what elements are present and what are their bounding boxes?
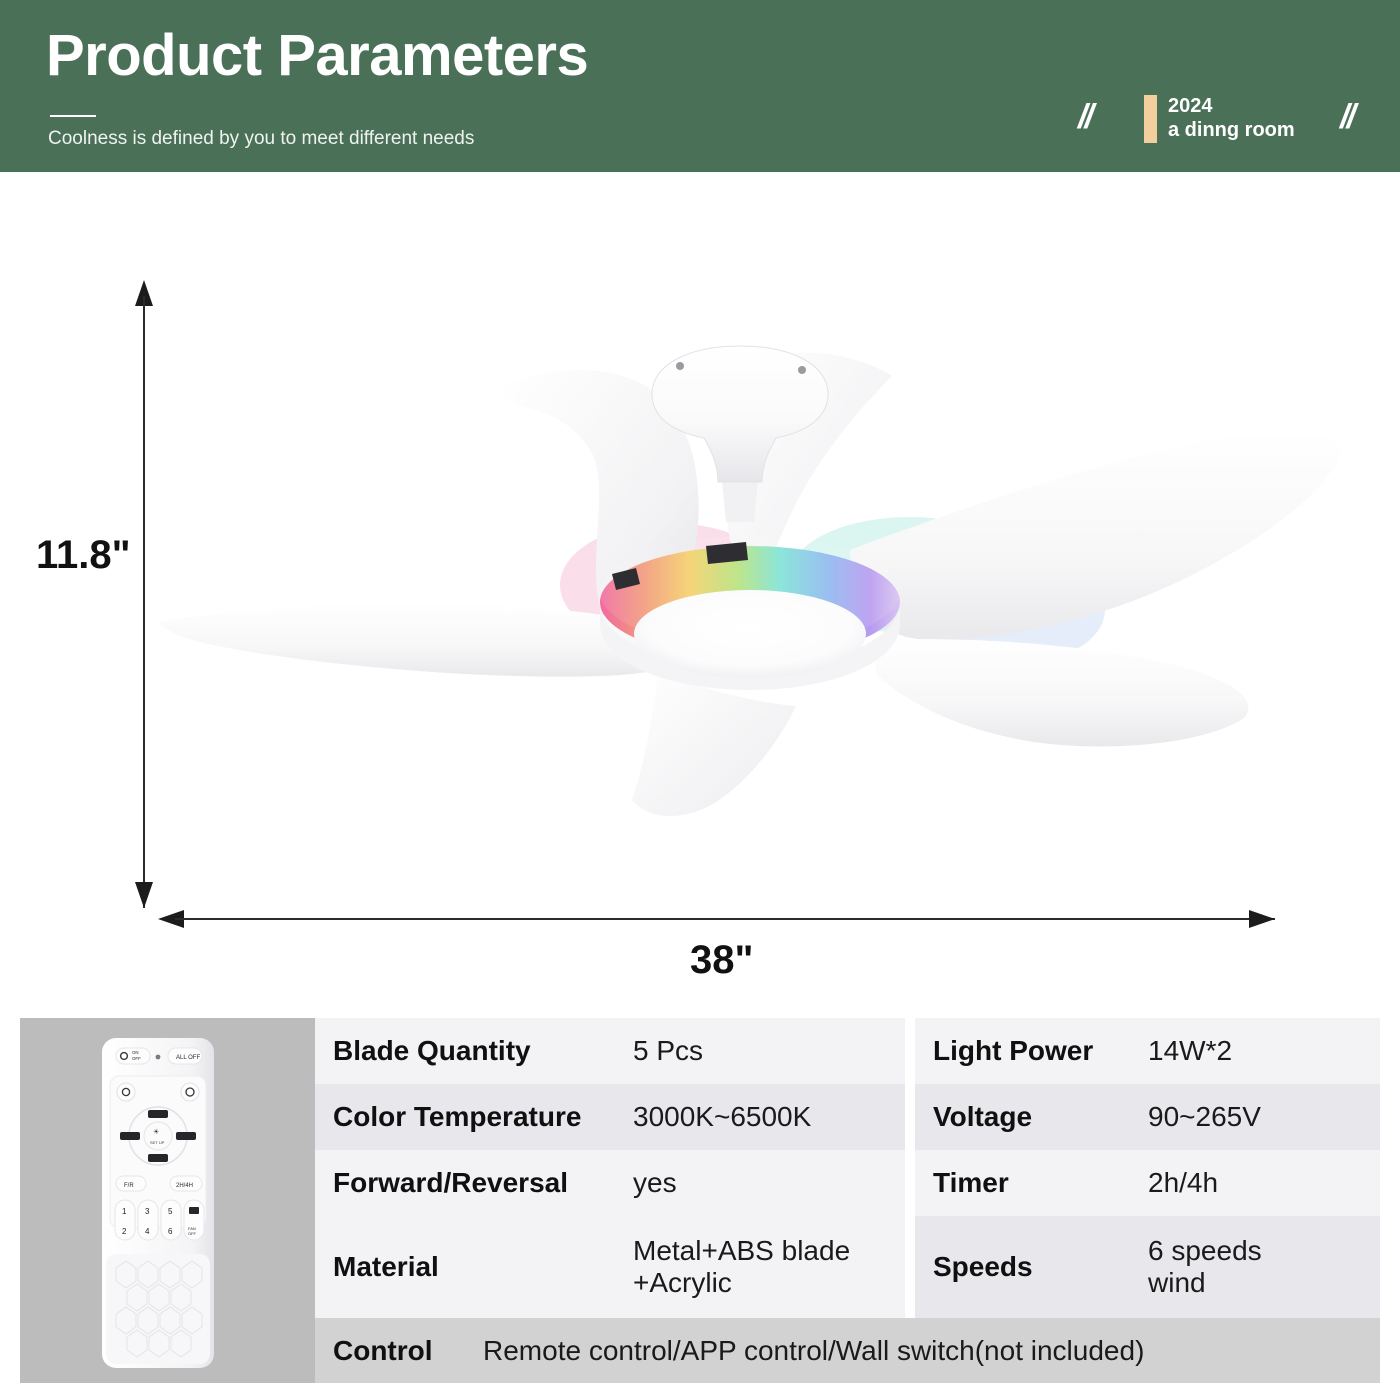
height-dimension-line bbox=[143, 296, 145, 908]
svg-text:OFF: OFF bbox=[132, 1056, 141, 1061]
table-row: Color Temperature 3000K~6500K bbox=[315, 1084, 905, 1150]
year-room-block: 2024 a dinng room bbox=[1168, 94, 1295, 143]
table-row-control: Control Remote control/APP control/Wall … bbox=[315, 1318, 1380, 1383]
svg-text:ON: ON bbox=[132, 1050, 139, 1055]
year-label: 2024 bbox=[1168, 94, 1295, 118]
room-label: a dinng room bbox=[1168, 118, 1295, 142]
spec-value: 14W*2 bbox=[1148, 1035, 1232, 1067]
specifications-section: ON OFF ALL OFF ☀ SET UP F/R 2H/4H bbox=[20, 1018, 1380, 1383]
spec-key: Speeds bbox=[933, 1251, 1148, 1283]
spec-value: Remote control/APP control/Wall switch(n… bbox=[483, 1335, 1144, 1367]
spec-key: Voltage bbox=[933, 1101, 1148, 1133]
spec-column-left: Blade Quantity 5 Pcs Color Temperature 3… bbox=[315, 1018, 905, 1318]
svg-text:ALL OFF: ALL OFF bbox=[176, 1055, 200, 1061]
year-accent-bar bbox=[1144, 95, 1157, 143]
spec-table: Blade Quantity 5 Pcs Color Temperature 3… bbox=[315, 1018, 1380, 1383]
page-header: Product Parameters Coolness is defined b… bbox=[0, 0, 1400, 172]
width-dimension-label: 38" bbox=[690, 938, 753, 983]
table-row: Timer 2h/4h bbox=[915, 1150, 1380, 1216]
slash-decoration-left: // bbox=[1078, 100, 1091, 134]
page-subtitle: Coolness is defined by you to meet diffe… bbox=[48, 128, 474, 150]
spec-value: Metal+ABS blade +Acrylic bbox=[633, 1235, 850, 1300]
svg-text:4: 4 bbox=[145, 1227, 150, 1236]
svg-text:1: 1 bbox=[122, 1207, 127, 1216]
svg-text:OFF: OFF bbox=[188, 1231, 197, 1236]
spec-column-right: Light Power 14W*2 Voltage 90~265V Timer … bbox=[915, 1018, 1380, 1318]
svg-text:5: 5 bbox=[168, 1207, 173, 1216]
height-dimension-label: 11.8" bbox=[36, 533, 131, 578]
svg-text:F/R: F/R bbox=[124, 1183, 134, 1189]
spec-key: Color Temperature bbox=[333, 1101, 633, 1133]
spec-value: yes bbox=[633, 1167, 677, 1199]
spec-key: Blade Quantity bbox=[333, 1035, 633, 1067]
slash-decoration-right: // bbox=[1340, 100, 1353, 134]
width-arrow-right-icon bbox=[1249, 910, 1275, 928]
svg-text:2: 2 bbox=[122, 1227, 127, 1236]
spec-value: 2h/4h bbox=[1148, 1167, 1218, 1199]
spec-value: 3000K~6500K bbox=[633, 1101, 811, 1133]
width-dimension-line bbox=[175, 918, 1275, 920]
title-divider bbox=[50, 115, 96, 117]
spec-key: Material bbox=[333, 1251, 633, 1283]
table-row: Forward/Reversal yes bbox=[315, 1150, 905, 1216]
table-row: Voltage 90~265V bbox=[915, 1084, 1380, 1150]
svg-text:☀: ☀ bbox=[153, 1128, 159, 1136]
svg-text:6: 6 bbox=[168, 1227, 173, 1236]
table-row: Light Power 14W*2 bbox=[915, 1018, 1380, 1084]
table-row: Speeds 6 speeds wind bbox=[915, 1216, 1380, 1318]
spec-key: Timer bbox=[933, 1167, 1148, 1199]
column-divider bbox=[905, 1018, 915, 1318]
spec-key: Light Power bbox=[933, 1035, 1148, 1067]
product-image-ceiling-fan bbox=[150, 340, 1350, 820]
page-title: Product Parameters bbox=[46, 22, 588, 89]
svg-text:3: 3 bbox=[145, 1207, 150, 1216]
table-row: Blade Quantity 5 Pcs bbox=[315, 1018, 905, 1084]
spec-value: 6 speeds wind bbox=[1148, 1235, 1262, 1300]
svg-text:2H/4H: 2H/4H bbox=[176, 1183, 193, 1189]
spec-value: 5 Pcs bbox=[633, 1035, 703, 1067]
remote-control-image: ON OFF ALL OFF ☀ SET UP F/R 2H/4H bbox=[20, 1018, 315, 1383]
svg-text:SET UP: SET UP bbox=[150, 1140, 165, 1145]
spec-value: 90~265V bbox=[1148, 1101, 1261, 1133]
spec-key: Forward/Reversal bbox=[333, 1167, 633, 1199]
table-row: Material Metal+ABS blade +Acrylic bbox=[315, 1216, 905, 1318]
height-arrow-down-icon bbox=[135, 882, 153, 908]
spec-key: Control bbox=[333, 1335, 483, 1367]
